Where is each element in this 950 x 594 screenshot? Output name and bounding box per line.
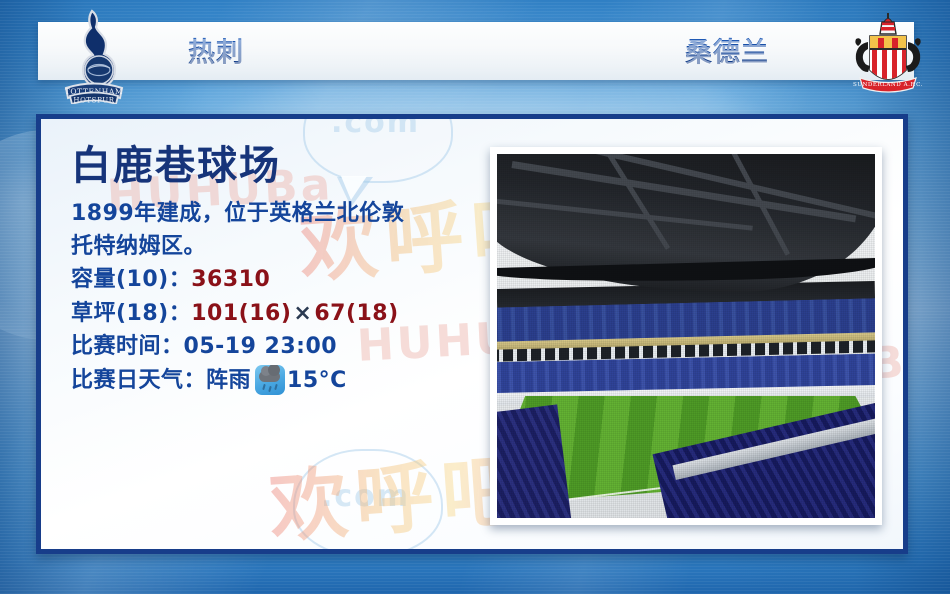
stadium-description-line-2: 托特纳姆区。 [71, 231, 501, 264]
pitch-width-value: 67(18) [314, 301, 398, 326]
stadium-photo-frame[interactable] [490, 147, 882, 525]
pitch-dimension-separator: × [291, 301, 314, 326]
weather-label: 比赛日天气： [71, 364, 206, 397]
home-team-crest-icon[interactable]: TOTTENHAM HOTSPUR [58, 8, 130, 104]
slide-background: HUHUBa 热刺 桑德兰 TOTTENHAM HOTSPUR [0, 0, 950, 594]
pitch-row: 草坪(18)：101(16)×67(18) [71, 297, 501, 330]
weather-row: 比赛日天气：阵雨15°C [71, 364, 501, 397]
shower-rain-icon [255, 365, 285, 395]
match-header-bar: 热刺 桑德兰 [38, 22, 914, 80]
match-time-row: 比赛时间：05-19 23:00 [71, 330, 501, 363]
weather-condition-text: 阵雨 [206, 364, 251, 397]
away-team-crest-icon[interactable]: SUNDERLAND A.F.C. [848, 12, 928, 98]
watermark-domain-text: .com [331, 114, 420, 140]
weather-temperature: 15°C [287, 364, 347, 397]
capacity-value: 36310 [191, 267, 270, 292]
watermark-domain-text-lower: .com [321, 479, 410, 514]
svg-text:SUNDERLAND A.F.C.: SUNDERLAND A.F.C. [853, 82, 923, 88]
stadium-title: 白鹿巷球场 [71, 145, 501, 188]
watermark-speech-bubble-lower: .com [293, 449, 443, 554]
capacity-row: 容量(10)：36310 [71, 263, 501, 296]
pitch-label: 草坪(18)： [71, 301, 191, 326]
svg-text:HOTSPUR: HOTSPUR [73, 97, 114, 105]
stadium-photo [497, 154, 875, 518]
capacity-label: 容量(10)： [71, 267, 191, 292]
home-team-name: 热刺 [188, 31, 244, 70]
stadium-description-line-1: 1899年建成，位于英格兰北伦敦 [71, 198, 501, 231]
away-team-name: 桑德兰 [685, 31, 769, 70]
pitch-length-value: 101(16) [191, 301, 291, 326]
stadium-info-text: 白鹿巷球场 1899年建成，位于英格兰北伦敦 托特纳姆区。 容量(10)：363… [71, 145, 501, 397]
match-time-label: 比赛时间： [71, 334, 184, 359]
match-time-value: 05-19 23:00 [184, 334, 338, 359]
stadium-info-panel: .com .com HUHUBa HUHUBa HUHUBa 欢呼吧 欢呼吧 白… [36, 114, 908, 554]
